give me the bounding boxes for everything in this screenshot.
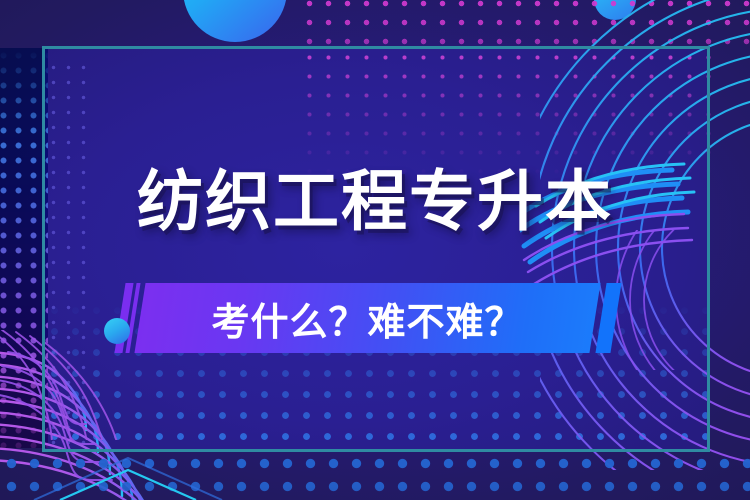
gradient-circle-small-icon bbox=[104, 318, 130, 344]
subtitle-text: 考什么？难不难？ bbox=[140, 283, 595, 353]
inner-panel-background bbox=[42, 46, 710, 452]
page-title: 纺织工程专升本 bbox=[0, 168, 750, 234]
banner-stripe-right bbox=[595, 283, 621, 353]
poster-canvas: 纺织工程专升本 考什么？难不难？ bbox=[0, 0, 750, 500]
